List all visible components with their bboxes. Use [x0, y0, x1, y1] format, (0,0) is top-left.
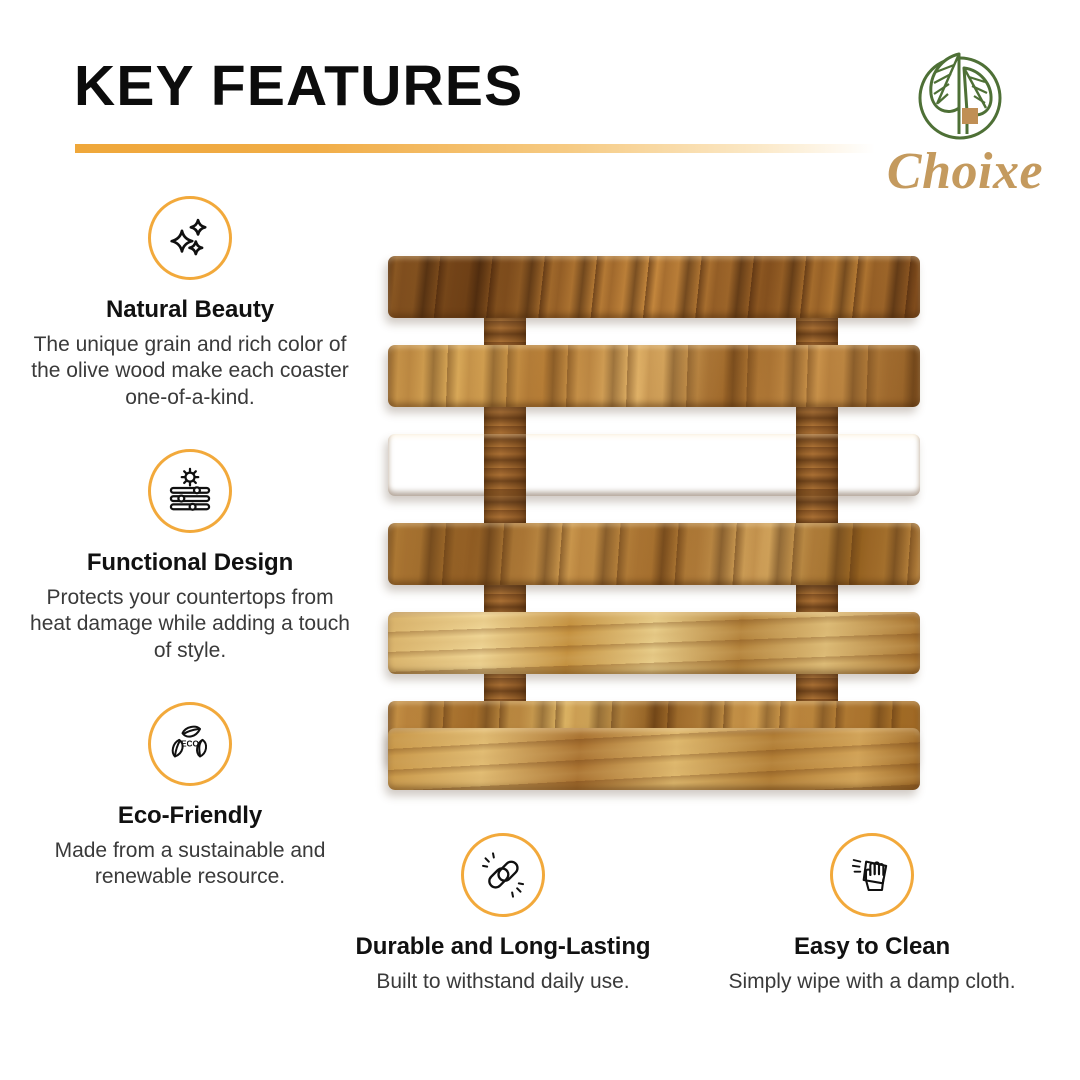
svg-text:ECO: ECO [181, 739, 200, 749]
chain-link-icon [461, 833, 545, 917]
feature-description: Simply wipe with a damp cloth. [712, 969, 1032, 996]
product-image-olive-wood-trivet [388, 252, 920, 792]
feature-title: Functional Design [24, 549, 356, 577]
trivet-slat [388, 523, 920, 585]
feature-natural-beauty: Natural Beauty The unique grain and rich… [24, 196, 356, 412]
trivet-slat [388, 612, 920, 674]
feature-description: The unique grain and rich color of the o… [24, 332, 356, 413]
page-title: KEY FEATURES [74, 58, 523, 115]
infographic-canvas: KEY FEATURES Choixe [0, 0, 1080, 1080]
eco-leaves-icon: ECO [148, 702, 232, 786]
trivet-slat [388, 345, 920, 407]
feature-title: Durable and Long-Lasting [348, 933, 658, 961]
title-underline-gradient [75, 144, 875, 153]
feature-functional-design: Functional Design Protects your countert… [24, 449, 356, 665]
feature-title: Eco-Friendly [24, 802, 356, 830]
brand-logo: Choixe [885, 46, 1045, 201]
feature-description: Protects your countertops from heat dama… [24, 585, 356, 666]
gear-sliders-icon [148, 449, 232, 533]
trivet-slat [388, 728, 920, 790]
feature-title: Easy to Clean [712, 933, 1032, 961]
feature-easy-to-clean: Easy to Clean Simply wipe with a damp cl… [712, 833, 1032, 995]
sparkles-icon [148, 196, 232, 280]
trivet-slat [388, 256, 920, 318]
feature-title: Natural Beauty [24, 296, 356, 324]
feature-description: Made from a sustainable and renewable re… [24, 838, 356, 892]
trivet-slat [388, 434, 920, 496]
hand-wiping-cloth-icon [830, 833, 914, 917]
leaf-circle-icon [912, 46, 1008, 146]
feature-durable-long-lasting: Durable and Long-Lasting Built to withst… [348, 833, 658, 995]
feature-description: Built to withstand daily use. [348, 969, 658, 996]
brand-wordmark: Choixe [885, 146, 1045, 198]
feature-eco-friendly: ECO Eco-Friendly Made from a sustainable… [24, 702, 356, 891]
